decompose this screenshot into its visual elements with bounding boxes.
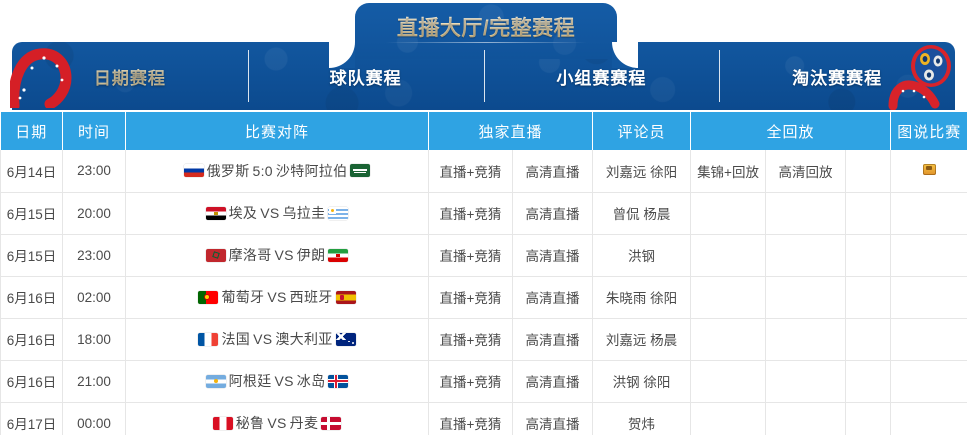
cell-time: 23:00 (63, 150, 126, 192)
cell-live-betting[interactable]: 直播+竞猜 (429, 318, 513, 360)
cell-date: 6月16日 (1, 360, 63, 402)
cell-live-hd[interactable]: 高清直播 (513, 402, 593, 435)
cell-time: 21:00 (63, 360, 126, 402)
cell-replay-hd[interactable] (766, 402, 846, 435)
cell-date: 6月16日 (1, 276, 63, 318)
argentina-flag (206, 375, 226, 388)
match-separator: VS (260, 205, 279, 221)
cell-pictures[interactable] (891, 234, 967, 276)
cell-live-hd[interactable]: 高清直播 (513, 234, 593, 276)
cell-match[interactable]: 埃及VS乌拉圭 (126, 192, 429, 234)
cell-pictures[interactable] (891, 318, 967, 360)
header-banner: 直播大厅/完整赛程 (0, 0, 967, 112)
cell-live-betting[interactable]: 直播+竞猜 (429, 234, 513, 276)
cell-date: 6月15日 (1, 192, 63, 234)
match-separator: VS (267, 415, 286, 431)
cell-date: 6月14日 (1, 150, 63, 192)
nav-item-label: 小组赛赛程 (556, 64, 646, 89)
nav-divider (719, 50, 720, 102)
cell-commentator: 刘嘉远 杨晨 (593, 318, 691, 360)
match-home-team: 法国 (221, 329, 250, 349)
cell-time: 00:00 (63, 402, 126, 435)
cell-commentator: 洪钢 徐阳 (593, 360, 691, 402)
cell-commentator: 刘嘉远 徐阳 (593, 150, 691, 192)
column-header-match: 比赛对阵 (126, 112, 429, 150)
match-home-team: 秘鲁 (236, 413, 265, 433)
egypt-flag (206, 207, 226, 220)
cell-replay-extra (846, 150, 891, 192)
schedule-nav: 日期赛程 球队赛程 小组赛赛程 淘汰赛赛程 (12, 42, 955, 110)
cell-replay-highlights[interactable] (691, 276, 766, 318)
nav-item-date-schedule[interactable]: 日期赛程 (12, 42, 248, 110)
russia-flag (184, 164, 204, 177)
table-row[interactable]: 6月15日23:00摩洛哥VS伊朗直播+竞猜高清直播洪钢 (1, 234, 967, 276)
nav-item-team-schedule[interactable]: 球队赛程 (248, 42, 484, 110)
nav-item-label: 淘汰赛赛程 (792, 64, 882, 89)
nav-item-group-stage-schedule[interactable]: 小组赛赛程 (484, 42, 720, 110)
nav-divider (248, 50, 249, 102)
match-separator: VS (267, 289, 286, 305)
match-home-team: 葡萄牙 (221, 287, 264, 307)
match-away-team: 沙特阿拉伯 (276, 161, 348, 181)
match-matchup[interactable]: 法国VS澳大利亚 (127, 329, 427, 349)
uruguay-flag (328, 207, 348, 220)
iran-flag (328, 249, 348, 262)
schedule-table: 日期 时间 比赛对阵 独家直播 评论员 全回放 图说比赛 6月14日23:00俄… (0, 112, 967, 435)
column-header-time: 时间 (63, 112, 126, 150)
table-body: 6月14日23:00俄罗斯5:0沙特阿拉伯直播+竞猜高清直播刘嘉远 徐阳集锦+回… (1, 150, 967, 435)
cell-commentator: 贺炜 (593, 402, 691, 435)
column-header-date: 日期 (1, 112, 63, 150)
cell-replay-hd[interactable] (766, 360, 846, 402)
cell-time: 23:00 (63, 234, 126, 276)
cell-live-betting[interactable]: 直播+竞猜 (429, 360, 513, 402)
france-flag (198, 333, 218, 346)
cell-live-betting[interactable]: 直播+竞猜 (429, 192, 513, 234)
match-away-team: 澳大利亚 (275, 329, 332, 349)
match-matchup[interactable]: 摩洛哥VS伊朗 (127, 245, 427, 265)
cell-replay-highlights[interactable] (691, 192, 766, 234)
morocco-flag (206, 249, 226, 262)
cell-live-hd[interactable]: 高清直播 (513, 150, 593, 192)
cell-live-hd[interactable]: 高清直播 (513, 276, 593, 318)
cell-commentator: 朱晓雨 徐阳 (593, 276, 691, 318)
nav-item-label: 球队赛程 (330, 64, 402, 89)
cell-live-betting[interactable]: 直播+竞猜 (429, 276, 513, 318)
cell-pictures[interactable] (891, 150, 967, 192)
nav-item-knockout-schedule[interactable]: 淘汰赛赛程 (719, 42, 955, 110)
cell-pictures[interactable] (891, 402, 967, 435)
cell-commentator: 曾侃 杨晨 (593, 192, 691, 234)
spain-flag (336, 291, 356, 304)
cell-pictures[interactable] (891, 192, 967, 234)
nav-item-label: 日期赛程 (94, 64, 166, 89)
match-home-team: 俄罗斯 (207, 161, 250, 181)
page-root: 直播大厅/完整赛程 (0, 0, 967, 435)
cell-replay-extra (846, 276, 891, 318)
cell-live-betting[interactable]: 直播+竞猜 (429, 150, 513, 192)
match-away-team: 冰岛 (297, 371, 326, 391)
cell-live-hd[interactable]: 高清直播 (513, 192, 593, 234)
match-away-team: 乌拉圭 (282, 203, 325, 223)
cell-replay-hd[interactable]: 高清回放 (766, 150, 846, 192)
saudi-arabia-flag (350, 164, 370, 177)
portugal-flag (198, 291, 218, 304)
match-home-team: 阿根廷 (229, 371, 272, 391)
match-home-team: 埃及 (229, 203, 258, 223)
cell-date: 6月16日 (1, 318, 63, 360)
match-separator: VS (253, 331, 272, 347)
cell-time: 18:00 (63, 318, 126, 360)
table-row[interactable]: 6月15日20:00埃及VS乌拉圭直播+竞猜高清直播曾侃 杨晨 (1, 192, 967, 234)
cell-replay-extra (846, 360, 891, 402)
cell-replay-hd[interactable] (766, 192, 846, 234)
cell-replay-highlights[interactable] (691, 360, 766, 402)
table-header-row: 日期 时间 比赛对阵 独家直播 评论员 全回放 图说比赛 (1, 112, 967, 150)
cell-time: 20:00 (63, 192, 126, 234)
column-header-full-replay: 全回放 (691, 112, 891, 150)
cell-replay-extra (846, 318, 891, 360)
iceland-flag (328, 375, 348, 388)
cell-match[interactable]: 秘鲁VS丹麦 (126, 402, 429, 435)
match-matchup[interactable]: 葡萄牙VS西班牙 (127, 287, 427, 307)
australia-flag (336, 333, 356, 346)
table-row[interactable]: 6月16日02:00葡萄牙VS西班牙直播+竞猜高清直播朱晓雨 徐阳 (1, 276, 967, 318)
match-separator: VS (275, 247, 294, 263)
nav-divider (484, 50, 485, 102)
match-away-team: 伊朗 (297, 245, 326, 265)
table-row[interactable]: 6月14日23:00俄罗斯5:0沙特阿拉伯直播+竞猜高清直播刘嘉远 徐阳集锦+回… (1, 150, 967, 192)
match-home-team: 摩洛哥 (229, 245, 272, 265)
cell-replay-highlights[interactable] (691, 234, 766, 276)
cell-replay-hd[interactable] (766, 234, 846, 276)
column-header-commentator: 评论员 (593, 112, 691, 150)
table-row[interactable]: 6月16日18:00法国VS澳大利亚直播+竞猜高清直播刘嘉远 杨晨 (1, 318, 967, 360)
cell-replay-highlights[interactable] (691, 402, 766, 435)
cell-commentator: 洪钢 (593, 234, 691, 276)
cell-replay-hd[interactable] (766, 276, 846, 318)
cell-replay-highlights[interactable] (691, 318, 766, 360)
cell-time: 02:00 (63, 276, 126, 318)
cell-live-hd[interactable]: 高清直播 (513, 360, 593, 402)
match-matchup[interactable]: 阿根廷VS冰岛 (127, 371, 427, 391)
match-matchup[interactable]: 俄罗斯5:0沙特阿拉伯 (127, 161, 427, 181)
cell-match[interactable]: 葡萄牙VS西班牙 (126, 276, 429, 318)
cell-pictures[interactable] (891, 276, 967, 318)
photo-gallery-icon[interactable] (923, 164, 936, 175)
cell-pictures[interactable] (891, 360, 967, 402)
denmark-flag (321, 417, 341, 430)
match-separator: VS (275, 373, 294, 389)
cell-replay-extra (846, 192, 891, 234)
cell-match[interactable]: 阿根廷VS冰岛 (126, 360, 429, 402)
cell-live-betting[interactable]: 直播+竞猜 (429, 402, 513, 435)
cell-date: 6月15日 (1, 234, 63, 276)
cell-match[interactable]: 俄罗斯5:0沙特阿拉伯 (126, 150, 429, 192)
match-matchup[interactable]: 埃及VS乌拉圭 (127, 203, 427, 223)
cell-replay-highlights[interactable]: 集锦+回放 (691, 150, 766, 192)
cell-match[interactable]: 摩洛哥VS伊朗 (126, 234, 429, 276)
cell-replay-extra (846, 234, 891, 276)
match-matchup[interactable]: 秘鲁VS丹麦 (127, 413, 427, 433)
cell-date: 6月17日 (1, 402, 63, 435)
match-away-team: 丹麦 (290, 413, 319, 433)
cell-live-hd[interactable]: 高清直播 (513, 318, 593, 360)
peru-flag (213, 417, 233, 430)
column-header-pictures: 图说比赛 (891, 112, 967, 150)
match-away-team: 西班牙 (290, 287, 333, 307)
page-title: 直播大厅/完整赛程 (355, 12, 617, 42)
column-header-exclusive-live: 独家直播 (429, 112, 593, 150)
table-row[interactable]: 6月17日00:00秘鲁VS丹麦直播+竞猜高清直播贺炜 (1, 402, 967, 435)
cell-match[interactable]: 法国VS澳大利亚 (126, 318, 429, 360)
table-row[interactable]: 6月16日21:00阿根廷VS冰岛直播+竞猜高清直播洪钢 徐阳 (1, 360, 967, 402)
cell-replay-extra (846, 402, 891, 435)
match-separator: 5:0 (253, 163, 273, 179)
cell-replay-hd[interactable] (766, 318, 846, 360)
